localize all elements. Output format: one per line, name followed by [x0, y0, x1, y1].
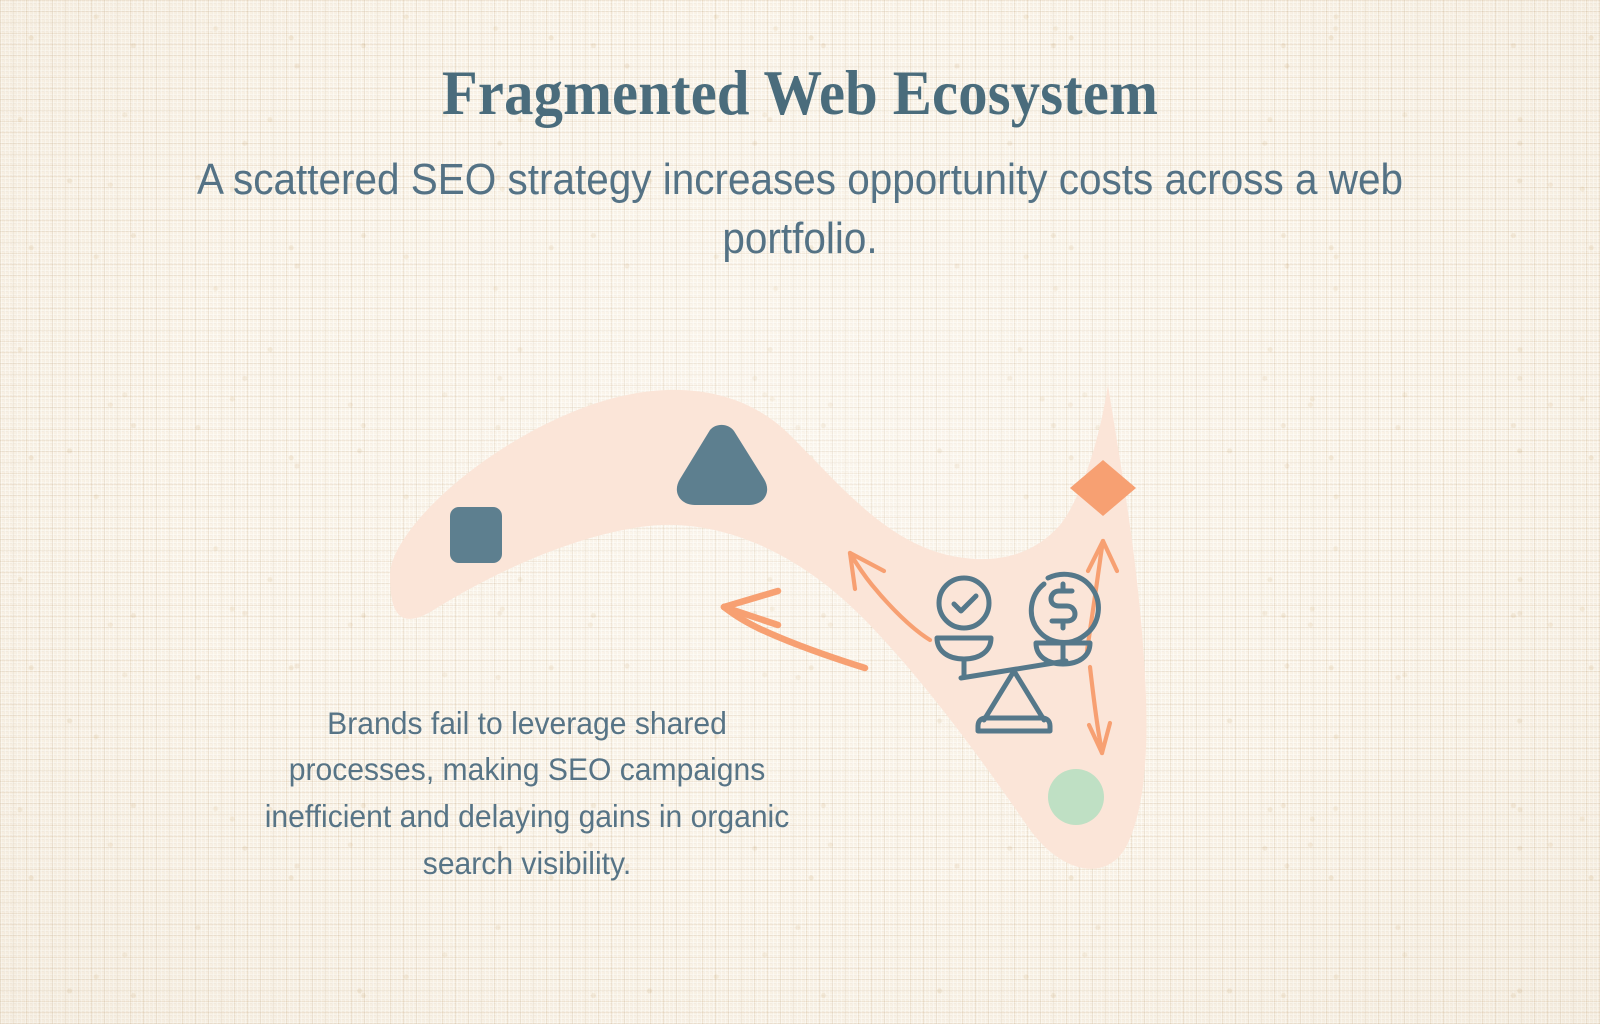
arrow-left [724, 591, 865, 668]
page-title: Fragmented Web Ecosystem [56, 62, 1544, 125]
header-block: Fragmented Web Ecosystem A scattered SEO… [0, 62, 1600, 268]
rounded-square-shape [450, 507, 502, 563]
circle-shape [1048, 769, 1104, 825]
poster-canvas: Fragmented Web Ecosystem A scattered SEO… [0, 0, 1600, 1024]
page-subtitle: A scattered SEO strategy increases oppor… [156, 151, 1444, 268]
body-paragraph: Brands fail to leverage shared processes… [251, 700, 803, 888]
